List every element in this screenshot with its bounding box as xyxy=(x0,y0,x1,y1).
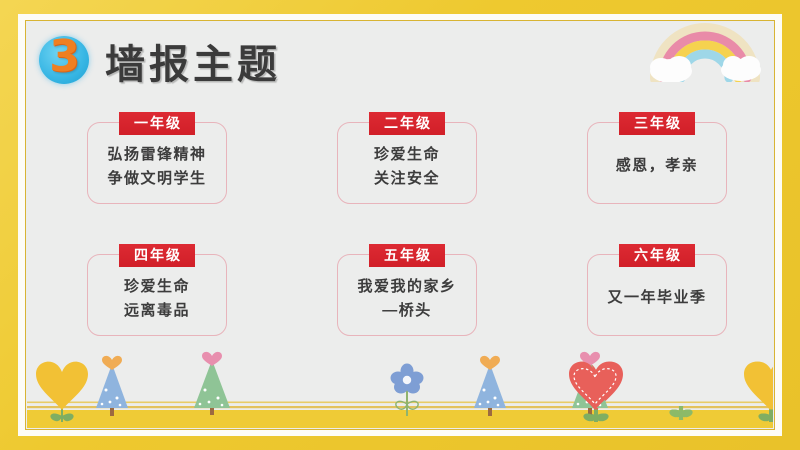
card-line: 感恩，孝亲 xyxy=(616,158,699,175)
badge-number-label: 3 xyxy=(35,28,93,86)
grade-card-content: 珍爱生命 远离毒品 xyxy=(124,279,190,319)
flower-icon xyxy=(769,364,774,417)
grade-card-content: 又一年毕业季 xyxy=(607,290,706,307)
grade-card[interactable]: 六年级 又一年毕业季 xyxy=(587,254,727,336)
grade-card-content: 珍爱生命 关注安全 xyxy=(374,147,440,187)
grade-card[interactable]: 三年级 感恩，孝亲 xyxy=(587,122,727,204)
cloud-icon xyxy=(721,56,761,81)
slide-canvas: 3 墙报主题 xyxy=(27,22,773,428)
tree-icon xyxy=(194,352,230,415)
grade-card-content: 弘扬雷锋精神 争做文明学生 xyxy=(107,147,206,187)
card-line: 关注安全 xyxy=(374,171,440,188)
tree-icon xyxy=(96,356,128,416)
garden-border-decoration xyxy=(27,346,773,428)
card-line: 我爱我的家乡 xyxy=(357,279,456,296)
tree-icon xyxy=(474,356,506,416)
sprout-icon xyxy=(669,406,690,420)
card-line: 珍爱生命 xyxy=(374,147,440,164)
grade-badge: 二年级 xyxy=(369,112,445,135)
grade-badge: 一年级 xyxy=(119,112,195,135)
card-line: 珍爱生命 xyxy=(124,279,190,296)
card-row-1: 一年级 弘扬雷锋精神 争做文明学生 二年级 珍爱生命 关注安全 三年级 xyxy=(87,122,727,204)
garden-svg xyxy=(27,346,773,428)
sprout-icon xyxy=(671,406,692,420)
flower-icon xyxy=(391,364,424,417)
grade-badge: 四年级 xyxy=(119,244,195,267)
page-title: 墙报主题 xyxy=(105,32,281,90)
heart-icon xyxy=(36,362,88,422)
grade-card[interactable]: 二年级 珍爱生命 关注安全 xyxy=(337,122,477,204)
grade-card[interactable]: 一年级 弘扬雷锋精神 争做文明学生 xyxy=(87,122,227,204)
card-line: 又一年毕业季 xyxy=(607,290,706,307)
grade-card-content: 我爱我的家乡 —桥头 xyxy=(357,279,456,319)
grade-badge: 六年级 xyxy=(619,244,695,267)
tree-icon xyxy=(572,352,608,415)
grade-card[interactable]: 五年级 我爱我的家乡 —桥头 xyxy=(337,254,477,336)
card-line: 远离毒品 xyxy=(124,303,190,320)
heart-icon xyxy=(744,362,773,422)
heart-icon xyxy=(746,362,773,422)
heart-icon xyxy=(571,362,623,422)
grade-card-grid: 一年级 弘扬雷锋精神 争做文明学生 二年级 珍爱生命 关注安全 三年级 xyxy=(87,122,727,336)
rainbow-icon xyxy=(641,22,769,82)
number-badge-icon: 3 xyxy=(35,28,93,86)
grade-badge: 五年级 xyxy=(369,244,445,267)
card-line: —桥头 xyxy=(382,303,432,320)
slide-root: 3 墙报主题 xyxy=(0,0,800,450)
grade-card[interactable]: 四年级 珍爱生命 远离毒品 xyxy=(87,254,227,336)
card-line: 争做文明学生 xyxy=(107,171,206,188)
grade-card-content: 感恩，孝亲 xyxy=(616,158,699,175)
card-line: 弘扬雷锋精神 xyxy=(107,147,206,164)
card-row-2: 四年级 珍爱生命 远离毒品 五年级 我爱我的家乡 —桥头 六年级 xyxy=(87,254,727,336)
grade-badge: 三年级 xyxy=(619,112,695,135)
heart-icon xyxy=(569,362,621,422)
cloud-icon xyxy=(650,56,692,82)
